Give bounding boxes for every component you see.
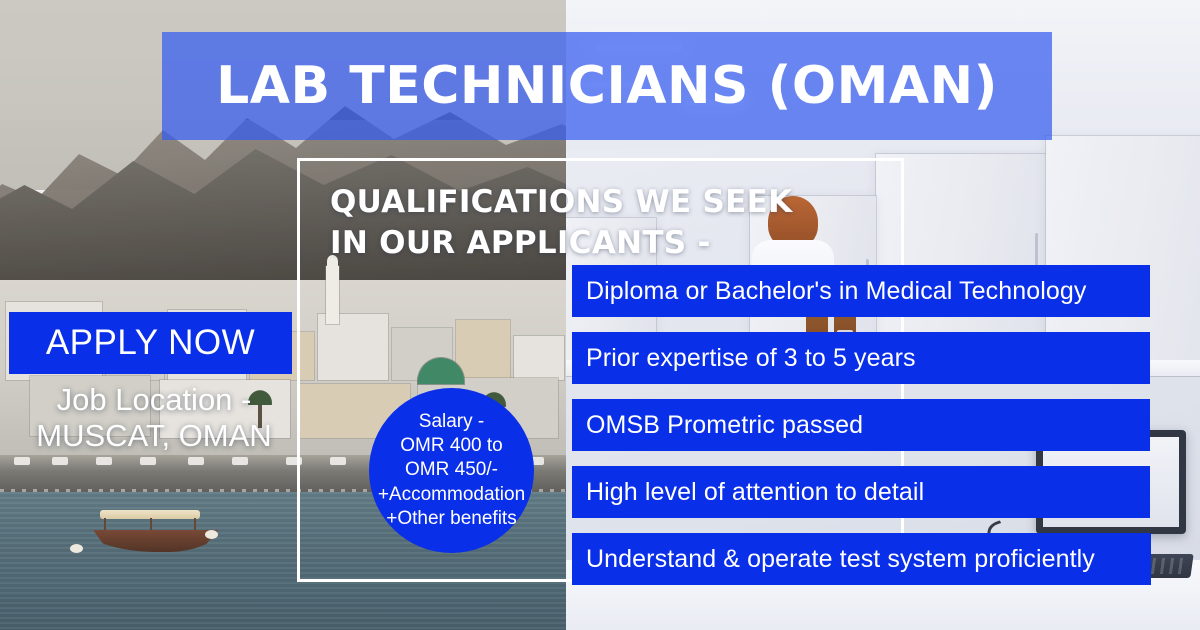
requirement-item: High level of attention to detail [572,466,1150,518]
salary-badge: Salary - OMR 400 to OMR 450/- +Accommoda… [369,388,534,553]
qualifications-heading-line-2: IN OUR APPLICANTS - [330,223,850,264]
qualifications-heading-line-1: QUALIFICATIONS WE SEEK [330,182,850,223]
requirements-list: Diploma or Bachelor's in Medical Technol… [572,265,1162,585]
job-location: Job Location - MUSCAT, OMAN [9,382,299,454]
apply-now-label: APPLY NOW [46,323,255,363]
salary-line: OMR 400 to [400,434,502,458]
job-location-label: Job Location - [9,382,299,418]
job-advertisement-poster: LAB TECHNICIANS (OMAN) QUALIFICATIONS WE… [0,0,1200,630]
page-title: LAB TECHNICIANS (OMAN) [216,60,998,112]
salary-line: +Other benefits [386,507,516,531]
requirement-item: Understand & operate test system profici… [572,533,1151,585]
dhow-boat [88,510,218,552]
requirement-item: Diploma or Bachelor's in Medical Technol… [572,265,1150,317]
salary-line: +Accommodation [378,483,525,507]
requirement-item: OMSB Prometric passed [572,399,1150,451]
mooring-buoy [70,544,83,553]
job-location-value: MUSCAT, OMAN [9,418,299,454]
requirement-item: Prior expertise of 3 to 5 years [572,332,1150,384]
qualifications-heading: QUALIFICATIONS WE SEEK IN OUR APPLICANTS… [330,182,850,264]
mooring-buoy [205,530,218,539]
title-banner: LAB TECHNICIANS (OMAN) [162,32,1052,140]
salary-line: OMR 450/- [405,458,498,482]
salary-line: Salary - [419,410,484,434]
apply-now-button[interactable]: APPLY NOW [9,312,292,374]
